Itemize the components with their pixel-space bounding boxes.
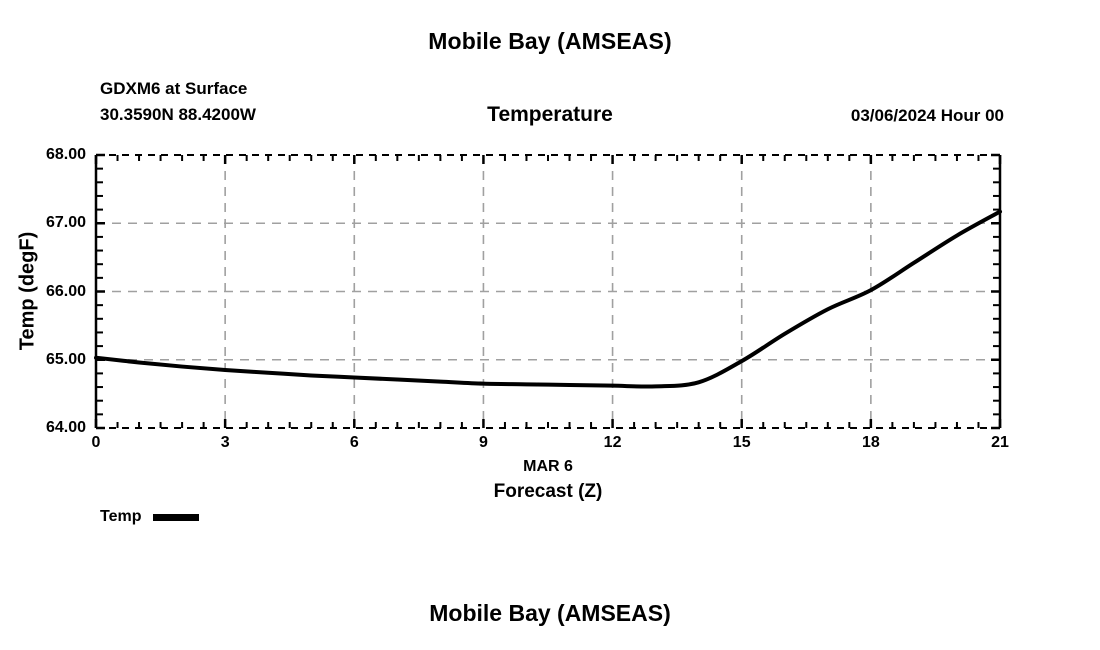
y-tick-label: 64.00: [0, 419, 86, 437]
x-tick-label: 18: [862, 434, 880, 452]
plot-area: [0, 0, 1100, 650]
legend-label-temp: Temp: [100, 508, 141, 526]
x-tick-label: 9: [479, 434, 488, 452]
chart-page: Mobile Bay (AMSEAS) GDXM6 at Surface 30.…: [0, 0, 1100, 650]
footer-title: Mobile Bay (AMSEAS): [0, 600, 1100, 627]
x-tick-label: 6: [350, 434, 359, 452]
x-tick-label: 15: [733, 434, 751, 452]
x-axis-label: Forecast (Z): [96, 481, 1000, 503]
y-tick-label: 65.00: [0, 351, 86, 369]
x-axis-date-label: MAR 6: [96, 458, 1000, 476]
x-tick-label: 3: [221, 434, 230, 452]
legend: Temp: [100, 508, 199, 526]
y-tick-label: 67.00: [0, 214, 86, 232]
legend-swatch-temp: [153, 514, 199, 521]
x-tick-label: 0: [92, 434, 101, 452]
x-tick-label: 12: [604, 434, 622, 452]
x-tick-label: 21: [991, 434, 1009, 452]
y-tick-label: 66.00: [0, 283, 86, 301]
y-tick-label: 68.00: [0, 146, 86, 164]
